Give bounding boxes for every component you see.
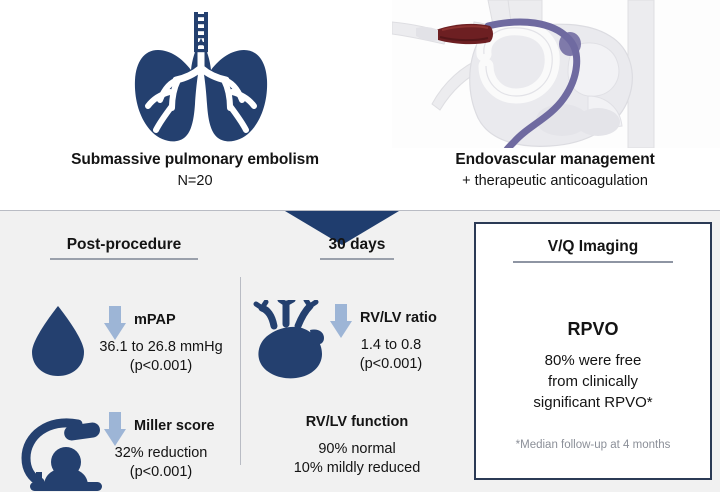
metric-value-line: (p<0.001) — [82, 463, 240, 482]
column-heading-30-days: 30 days — [246, 236, 468, 254]
right-caption-title: Endovascular management — [390, 150, 720, 170]
top-section: Submassive pulmonary embolism N=20 Endov… — [0, 0, 720, 211]
vq-imaging-box: V/Q Imaging RPVO 80% were free from clin… — [474, 222, 712, 480]
lungs-icon — [122, 8, 280, 146]
down-arrow-icon — [104, 306, 126, 340]
left-caption-title: Submassive pulmonary embolism — [0, 150, 390, 170]
metric-value-line: 1.4 to 0.8 — [314, 336, 468, 355]
metric-values-rvlv-function: 90% normal 10% mildly reduced — [246, 440, 468, 478]
vq-footnote: *Median follow-up at 4 months — [476, 439, 710, 451]
vq-body: 80% were free from clinically significan… — [476, 350, 710, 413]
down-arrow-icon — [330, 304, 352, 338]
metric-label-mpap: mPAP — [134, 312, 176, 328]
heading-underline — [50, 258, 198, 260]
left-caption: Submassive pulmonary embolism N=20 — [0, 150, 390, 191]
metric-label-rvlv-function: RV/LV function — [246, 414, 468, 430]
heading-underline — [320, 258, 394, 260]
metric-values-miller-score: 32% reduction (p<0.001) — [82, 444, 240, 482]
metric-value-line: (p<0.001) — [314, 355, 468, 374]
column-post-procedure: Post-procedure mPAP 36.1 to 26.8 mmHg (p… — [8, 236, 240, 460]
catheter-heart-illustration — [392, 0, 720, 148]
metric-rvlv-function: RV/LV function 90% normal 10% mildly red… — [246, 414, 468, 478]
metric-values-mpap: 36.1 to 26.8 mmHg (p<0.001) — [82, 338, 240, 376]
down-arrow-icon — [104, 412, 126, 446]
metric-mpap: mPAP 36.1 to 26.8 mmHg (p<0.001) — [8, 294, 240, 394]
infographic-root: Submassive pulmonary embolism N=20 Endov… — [0, 0, 720, 492]
metric-value-line: 10% mildly reduced — [246, 459, 468, 478]
column-30-days: 30 days — [246, 236, 468, 428]
right-caption: Endovascular management + therapeutic an… — [390, 150, 720, 191]
metric-value-line: 90% normal — [246, 440, 468, 459]
vq-body-line: 80% were free — [476, 350, 710, 371]
vq-body-line: significant RPVO* — [476, 392, 710, 413]
vq-body-line: from clinically — [476, 371, 710, 392]
metric-label-rvlv-ratio: RV/LV ratio — [360, 310, 437, 326]
metric-value-line: 36.1 to 26.8 mmHg — [82, 338, 240, 357]
right-caption-subtitle: + therapeutic anticoagulation — [390, 171, 720, 191]
vq-heading-underline — [513, 261, 673, 263]
water-drop-icon — [28, 304, 88, 378]
vq-heading: V/Q Imaging — [476, 238, 710, 256]
metric-rvlv-ratio: RV/LV ratio 1.4 to 0.8 (p<0.001) — [246, 290, 468, 394]
metric-value-line: 32% reduction — [82, 444, 240, 463]
metric-miller-score: Miller score 32% reduction (p<0.001) — [8, 404, 240, 504]
metric-value-line: (p<0.001) — [82, 357, 240, 376]
vq-title-rpvo: RPVO — [476, 319, 710, 340]
metric-label-miller-score: Miller score — [134, 418, 215, 434]
column-heading-post-procedure: Post-procedure — [8, 236, 240, 254]
column-divider — [240, 277, 241, 465]
metric-values-rvlv-ratio: 1.4 to 0.8 (p<0.001) — [314, 336, 468, 374]
left-caption-subtitle: N=20 — [0, 171, 390, 191]
